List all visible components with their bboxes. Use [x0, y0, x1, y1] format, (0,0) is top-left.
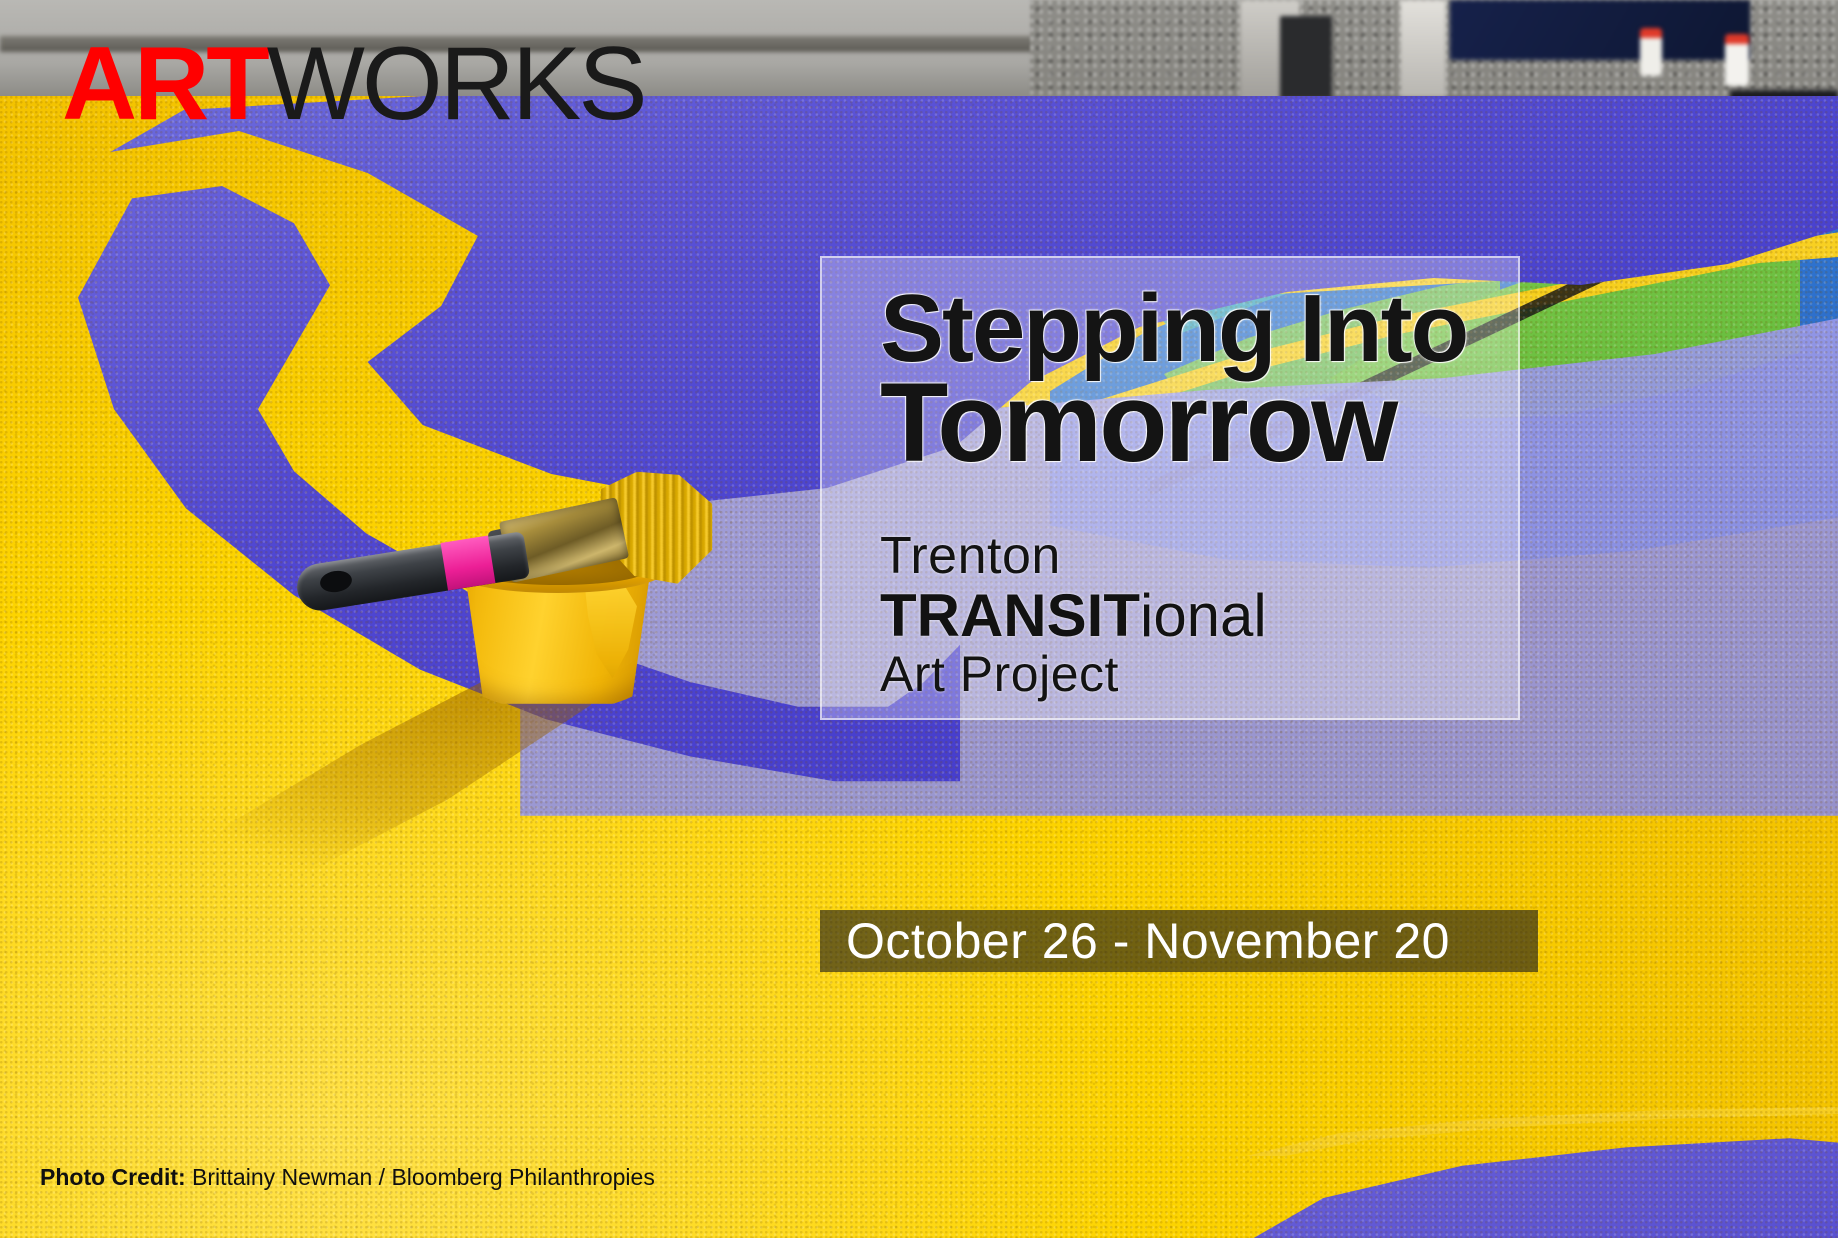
poster: ARTWORKS Stepping Into Tomorrow Trenton …	[0, 0, 1838, 1238]
headline-group: Stepping Into Tomorrow	[880, 284, 1518, 476]
pavement-object-column	[1400, 0, 1446, 110]
paintbrush	[296, 487, 676, 622]
pavement-object-bottle-b	[1725, 34, 1749, 86]
subtitle-transit-light: ional	[1140, 582, 1267, 649]
logo-text-works: WORKS	[267, 26, 645, 142]
pavement-object-bottle-a	[1640, 28, 1662, 76]
subtitle-transit-bold: TRANSIT	[880, 582, 1140, 649]
date-bar: October 26 - November 20	[820, 910, 1538, 972]
subtitle-group: Trenton TRANSITional Art Project	[880, 530, 1267, 700]
photo-credit-value: Brittainy Newman / Bloomberg Philanthrop…	[192, 1164, 655, 1190]
date-range-text: October 26 - November 20	[846, 912, 1450, 970]
brush-pink-tape	[441, 536, 496, 591]
title-panel: Stepping Into Tomorrow Trenton TRANSITio…	[820, 256, 1520, 720]
artworks-logo: ARTWORKS	[62, 32, 645, 136]
logo-text-art: ART	[62, 26, 267, 142]
subtitle-trenton: Trenton	[880, 530, 1267, 583]
photo-credit: Photo Credit: Brittainy Newman / Bloombe…	[40, 1164, 655, 1191]
pavement-object-dark	[1280, 16, 1332, 100]
subtitle-art-project: Art Project	[880, 648, 1267, 700]
photo-credit-label: Photo Credit:	[40, 1164, 186, 1190]
subtitle-transitional: TRANSITional	[880, 585, 1267, 646]
headline-line-2: Tomorrow	[880, 370, 1518, 475]
pavement-object-banner	[1450, 0, 1750, 60]
